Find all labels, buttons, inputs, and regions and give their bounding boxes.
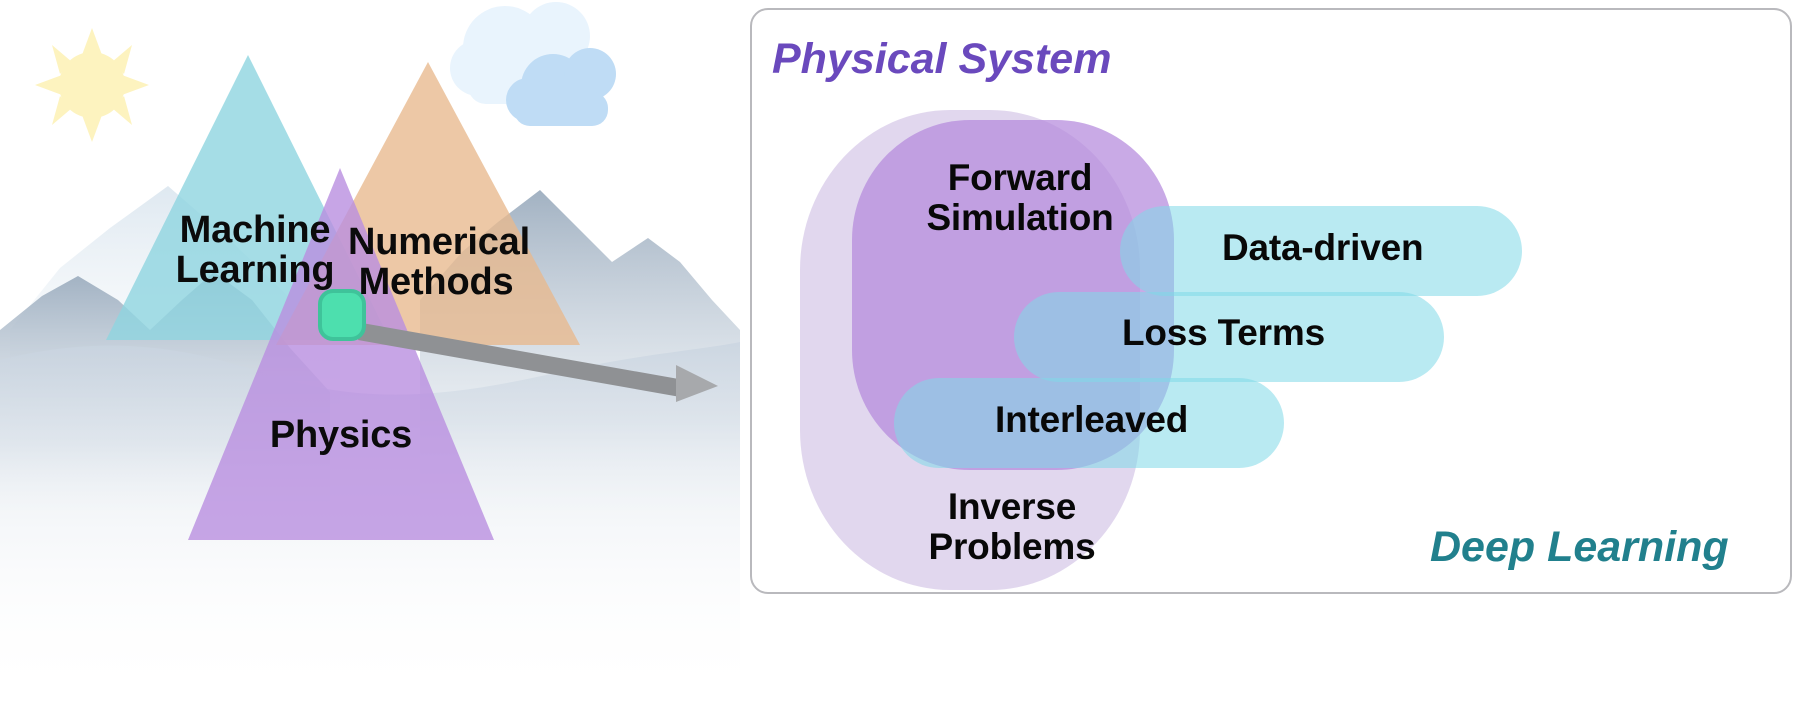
pill-label-data-driven: Data-driven — [1222, 227, 1423, 269]
panel-title-physical-system: Physical System — [772, 35, 1111, 84]
triangle-label-physics: Physics — [250, 415, 432, 455]
left-scene: Machine Learning Numerical Methods Physi… — [0, 0, 740, 702]
triangle-label-numerical-methods: Numerical Methods — [348, 222, 524, 303]
pill-label-interleaved: Interleaved — [995, 399, 1188, 441]
physical-system-panel: Physical System Forward Simulation Inver… — [750, 8, 1792, 594]
triangle-label-machine-learning: Machine Learning — [170, 210, 340, 291]
blob-label-forward-simulation: Forward Simulation — [900, 158, 1140, 238]
figure-root: Machine Learning Numerical Methods Physi… — [0, 0, 1800, 702]
sun-icon — [35, 28, 149, 142]
pill-label-loss-terms: Loss Terms — [1122, 312, 1325, 354]
panel-subtitle-deep-learning: Deep Learning — [1430, 523, 1729, 572]
blob-label-inverse-problems: Inverse Problems — [892, 487, 1132, 567]
